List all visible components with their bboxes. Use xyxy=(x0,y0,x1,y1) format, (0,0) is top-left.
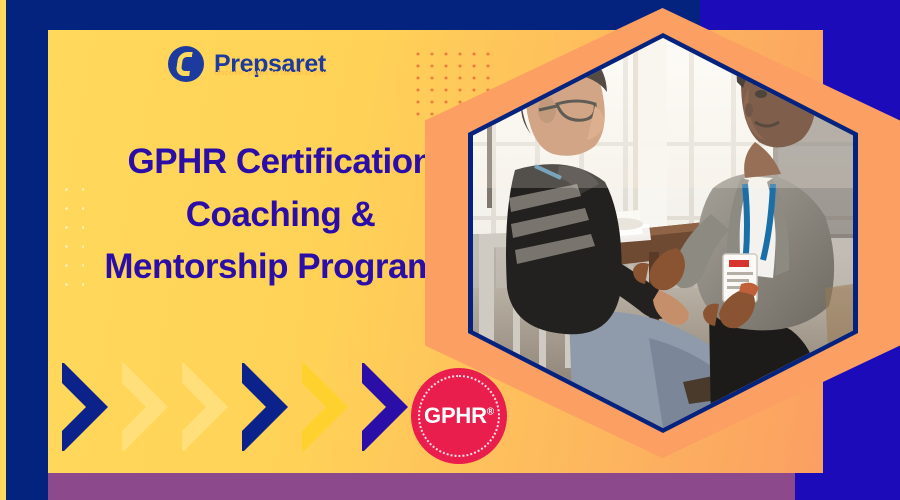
brand-tagline: Uncover paths to the best you xyxy=(214,68,327,77)
promo-banner: Prepsaret Uncover paths to the best you … xyxy=(0,0,900,500)
chevron-5-icon xyxy=(302,363,362,451)
chevron-2-icon xyxy=(122,363,182,451)
chevron-3-icon xyxy=(182,363,242,451)
bottom-purple-bar xyxy=(48,473,795,500)
chevron-1-icon xyxy=(62,363,122,451)
left-yellow-sliver xyxy=(0,0,6,500)
chevron-4-icon xyxy=(242,363,302,451)
hexagon-photo-frame xyxy=(425,8,900,458)
prepsaret-p-logo-icon xyxy=(168,46,204,82)
